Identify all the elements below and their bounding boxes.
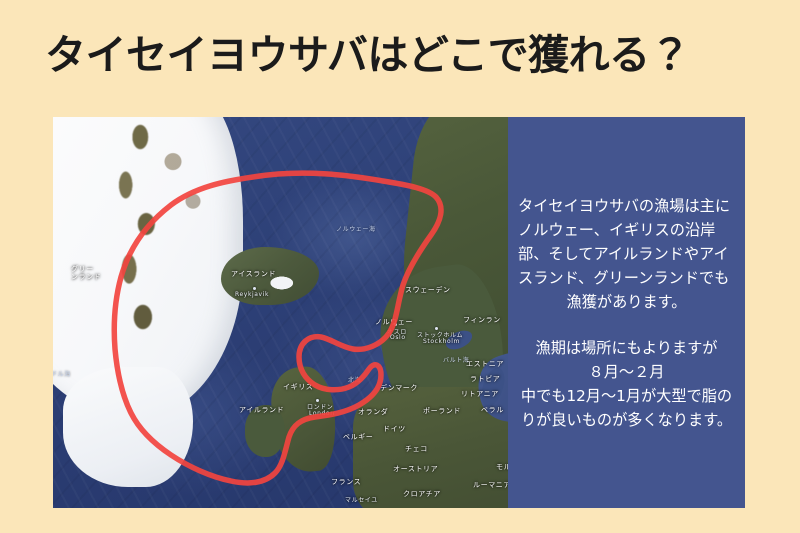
content-area: グリー ンランドドル海アイスランドReykjavikノルウェー海スウェーデンノル… — [53, 117, 745, 508]
london-dot — [316, 399, 319, 402]
oslo-dot — [394, 323, 397, 326]
greenland-coast-mountains — [93, 117, 179, 359]
description-panel: タイセイヨウサバの漁場は主にノルウェー、イギリスの沿岸部、そしてアイルランドやア… — [508, 117, 745, 508]
reykjavik-dot — [253, 287, 256, 290]
fishing-season-paragraph: 漁期は場所にもよりますが ８月〜２月 中でも12月〜1月が大型で脂のりが良いもの… — [518, 336, 735, 432]
paragraph-spacer — [518, 314, 735, 336]
page-title: タイセイヨウサバはどこで獲れる？ — [45, 24, 755, 86]
fishing-ground-map[interactable]: グリー ンランドドル海アイスランドReykjavikノルウェー海スウェーデンノル… — [53, 117, 508, 508]
greenland-south-tip — [63, 367, 193, 487]
ireland-landmass — [245, 405, 285, 457]
stockholm-dot — [435, 327, 438, 330]
fishing-grounds-paragraph: タイセイヨウサバの漁場は主にノルウェー、イギリスの沿岸部、そしてアイルランドやア… — [518, 194, 735, 314]
slide-root: タイセイヨウサバはどこで獲れる？ グリー ンランドドル海アイスランドReykja — [0, 0, 800, 533]
